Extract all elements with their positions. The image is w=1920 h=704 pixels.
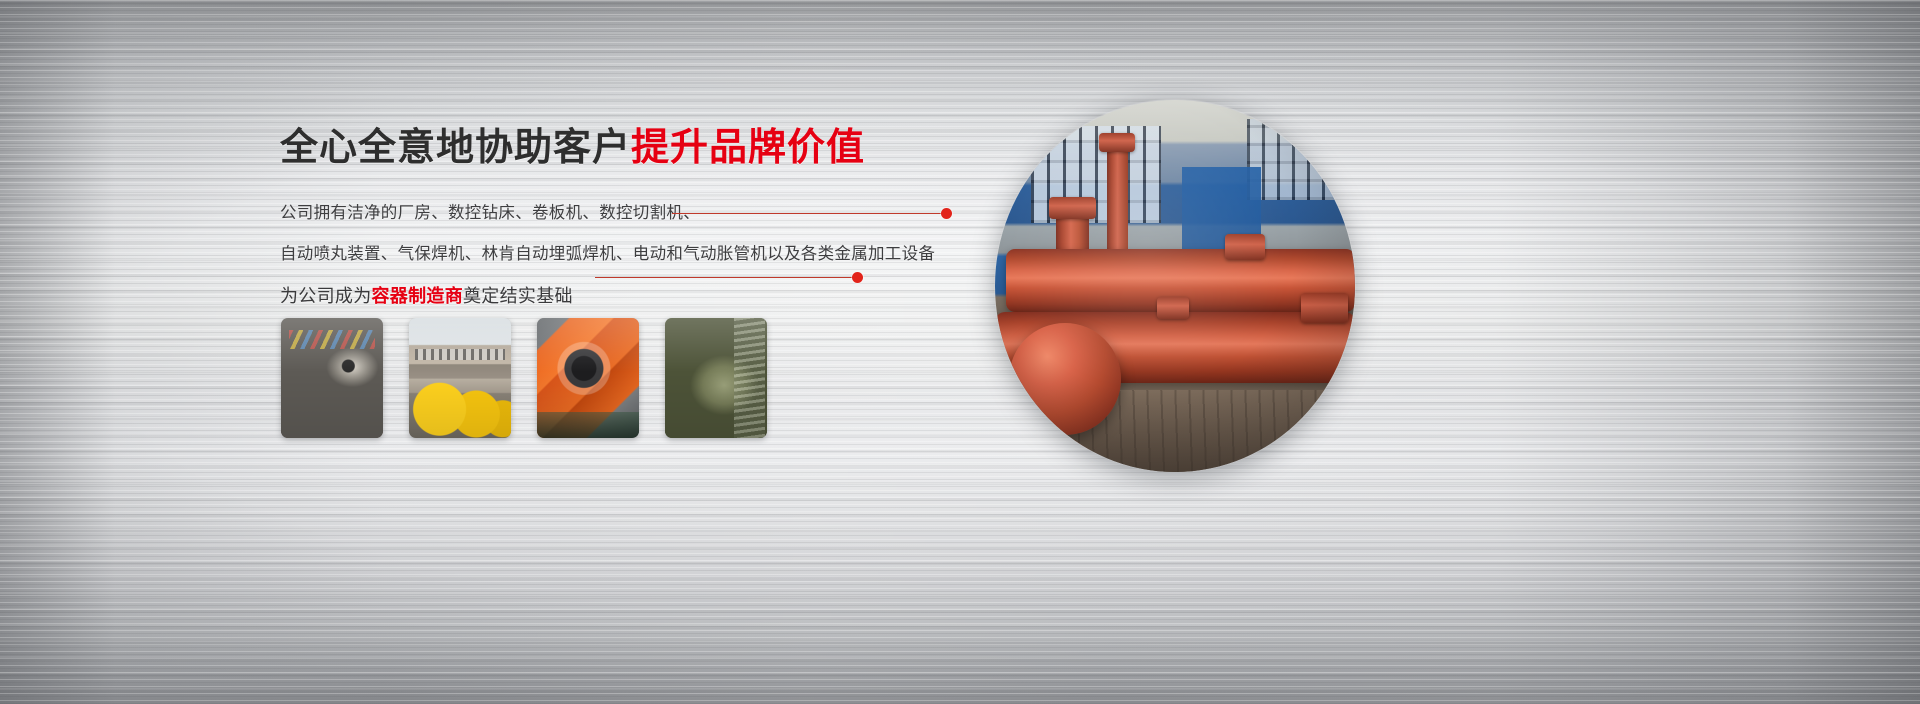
thumbnail-3[interactable] — [537, 318, 639, 438]
tagline-highlight: 容器制造商 — [372, 286, 464, 306]
headline-red-text: 提升品牌价值 — [631, 127, 865, 169]
body-line-2: 自动喷丸装置、气保焊机、林肯自动埋弧焊机、电动和气动胀管机以及各类金属加工设备 — [280, 245, 920, 264]
hero-photo-scene — [995, 100, 1355, 472]
hero-banner: 全心全意地协助客户提升品牌价值 公司拥有洁净的厂房、数控钻床、卷板机、数控切割机… — [0, 0, 1920, 704]
hero-photo-shading — [995, 100, 1355, 472]
connector-line-2 — [595, 272, 863, 284]
connector-dot-1 — [941, 208, 952, 219]
connector-line-1-rule — [672, 213, 943, 214]
thumbnail-4[interactable] — [665, 318, 767, 438]
thumbnail-strip — [281, 318, 767, 438]
thumbnail-2[interactable] — [409, 318, 511, 438]
connector-line-2-rule — [595, 277, 854, 278]
tagline-prefix: 为公司成为 — [280, 286, 372, 306]
thumbnail-4-gloss — [665, 318, 767, 438]
headline-dark-text: 全心全意地协助客户 — [280, 127, 631, 169]
tagline: 为公司成为容器制造商奠定结实基础 — [280, 286, 920, 307]
connector-dot-2 — [852, 272, 863, 283]
thumbnail-3-gloss — [537, 318, 639, 438]
tagline-suffix: 奠定结实基础 — [463, 286, 573, 306]
connector-line-1 — [672, 208, 952, 220]
page-title: 全心全意地协助客户提升品牌价值 — [280, 128, 920, 170]
thumbnail-2-gloss — [409, 318, 511, 438]
thumbnail-1[interactable] — [281, 318, 383, 438]
hero-circular-photo — [995, 100, 1355, 472]
thumbnail-1-gloss — [281, 318, 383, 438]
